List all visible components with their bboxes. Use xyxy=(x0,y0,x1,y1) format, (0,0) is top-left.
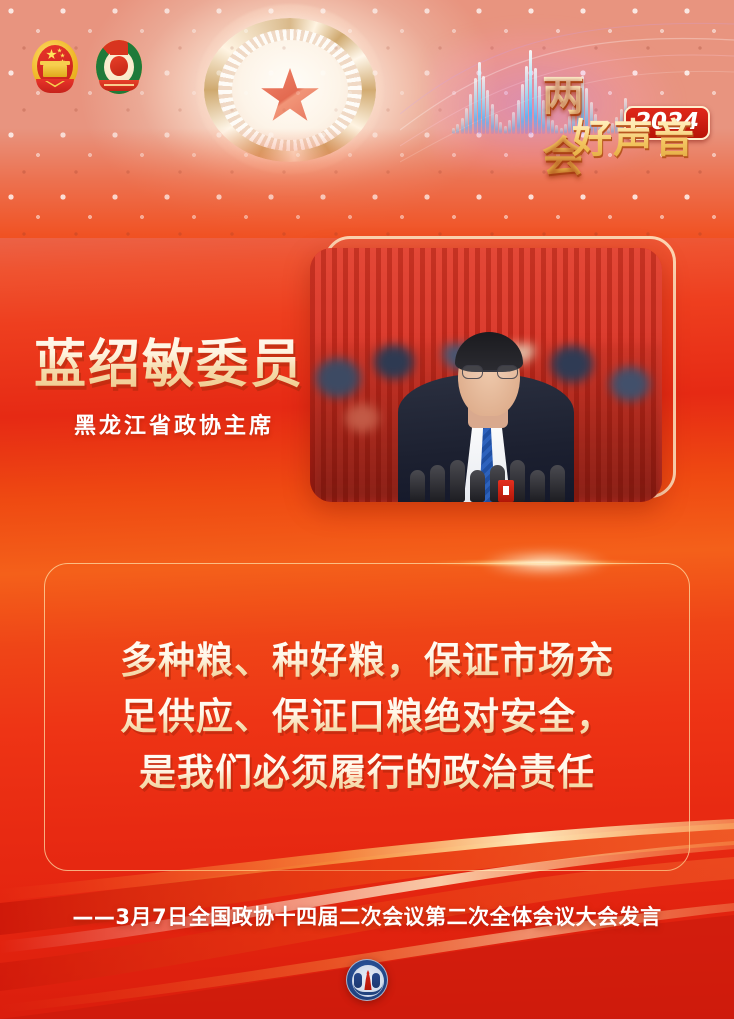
logo-line2: 好声音 xyxy=(572,106,695,164)
great-hall-ceiling-star-icon xyxy=(196,4,384,174)
poster-canvas: 两会 2024 好声音 蓝绍敏委员 黑龙江省政协主席 多种粮、种好粮，保证市场充… xyxy=(0,0,734,1019)
quote-line: 是我们必须履行的政治责任 xyxy=(139,750,595,796)
cppcc-emblem-icon xyxy=(94,36,144,100)
national-emblem-of-china-icon xyxy=(30,36,80,100)
event-caption: ——3月7日全国政协十四届二次会议第二次全体会议大会发言 xyxy=(0,901,734,931)
speaker-role: 黑龙江省政协主席 xyxy=(74,408,274,440)
photo-microphones xyxy=(410,460,570,502)
photo-glasses-icon xyxy=(462,365,518,380)
program-logo: 两会 2024 好声音 xyxy=(532,62,710,148)
speaker-photo xyxy=(310,248,662,502)
quote-line: 足供应、保证口粮绝对安全， xyxy=(120,694,614,740)
news-agency-circular-emblem-icon xyxy=(346,959,388,1001)
speaker-name: 蓝绍敏委员 xyxy=(34,322,304,397)
emblem-group xyxy=(30,36,144,100)
photo-delegate-badge xyxy=(498,480,514,502)
quote-line: 多种粮、种好粮，保证市场充 xyxy=(120,638,614,684)
